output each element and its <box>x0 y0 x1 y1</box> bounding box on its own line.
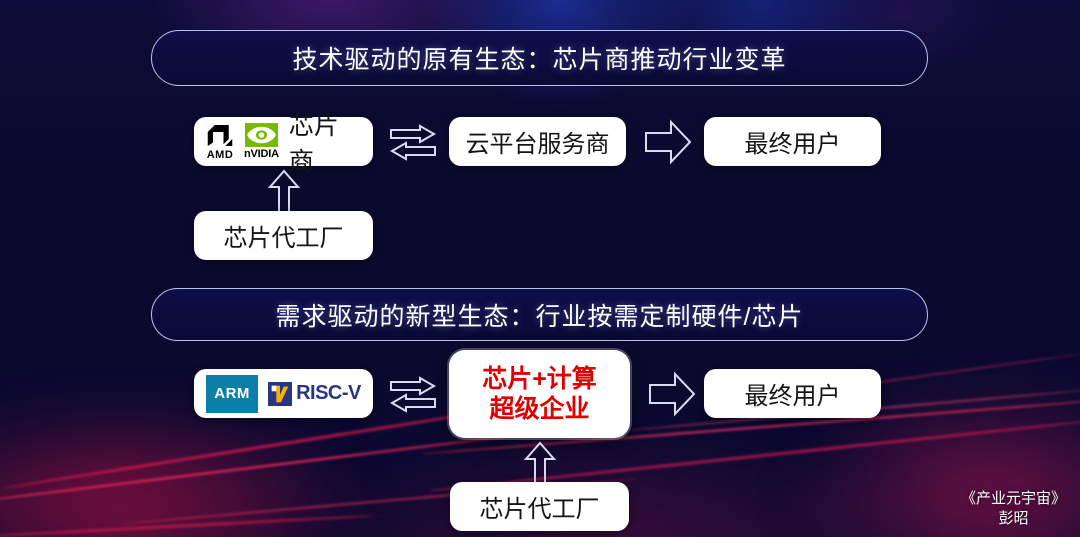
super-enterprise-line1: 芯片+计算 <box>482 365 597 393</box>
super-enterprise-line2: 超级企业 <box>489 395 589 423</box>
super-enterprise-label: 芯片+计算 超级企业 <box>482 364 597 425</box>
bottom-up-arrow <box>524 442 556 484</box>
top-banner: 技术驱动的原有生态：芯片商推动行业变革 <box>151 30 928 86</box>
nvidia-logo: nVIDIA <box>244 123 279 160</box>
amd-logo: AMD <box>206 123 234 161</box>
amd-wordmark: AMD <box>207 149 234 161</box>
credit-book-title: 《产业元宇宙》 <box>961 489 1066 509</box>
credit-block: 《产业元宇宙》 彭昭 <box>961 489 1066 530</box>
riscv-logo: RISC-V <box>268 382 361 406</box>
top-foundry-box[interactable]: 芯片代工厂 <box>194 211 373 260</box>
top-bidirectional-arrow <box>390 125 436 163</box>
bottom-right-arrow <box>648 371 696 417</box>
chip-vendor-label: 芯片商 <box>289 106 361 178</box>
arm-wordmark: ARM <box>214 385 250 402</box>
cloud-platform-box[interactable]: 云平台服务商 <box>449 117 626 166</box>
bottom-bidirectional-arrow <box>390 377 436 415</box>
credit-author: 彭昭 <box>961 509 1066 529</box>
arm-logo: ARM <box>206 375 258 413</box>
top-right-arrow <box>644 119 692 165</box>
bottom-foundry-box[interactable]: 芯片代工厂 <box>450 482 629 531</box>
super-enterprise-box[interactable]: 芯片+计算 超级企业 <box>449 350 630 438</box>
bottom-banner: 需求驱动的新型生态：行业按需定制硬件/芯片 <box>151 288 928 341</box>
streak-8 <box>0 514 380 537</box>
nvidia-eye-icon <box>245 123 278 147</box>
architecture-vendor-box[interactable]: ARM RISC-V <box>194 369 373 418</box>
slide-canvas: 技术驱动的原有生态：芯片商推动行业变革 AMD nVIDIA 芯片商 云平台服务… <box>0 0 1080 537</box>
background-glow-left <box>0 400 380 537</box>
top-up-arrow <box>268 170 300 214</box>
riscv-mark-icon <box>268 382 292 406</box>
bottom-end-user-box[interactable]: 最终用户 <box>704 369 881 418</box>
nvidia-wordmark: nVIDIA <box>244 148 279 160</box>
chip-vendor-box[interactable]: AMD nVIDIA 芯片商 <box>194 117 373 166</box>
amd-mark-icon <box>206 123 234 148</box>
riscv-wordmark: RISC-V <box>296 382 361 405</box>
top-end-user-box[interactable]: 最终用户 <box>704 117 881 166</box>
